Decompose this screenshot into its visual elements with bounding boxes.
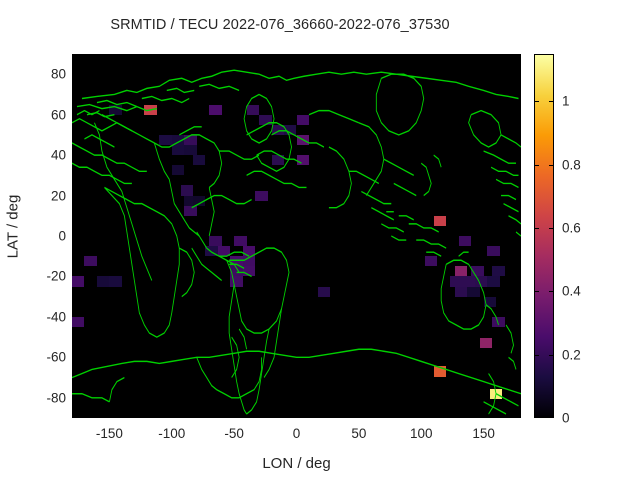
heatmap-cell bbox=[297, 155, 309, 165]
heatmap-cell bbox=[230, 256, 242, 266]
figure-canvas: SRMTID / TECU 2022-076_36660-2022-076_37… bbox=[0, 0, 640, 480]
x-axis-tick-labels: -150-100-50050100150 bbox=[0, 426, 640, 448]
heatmap-cell bbox=[434, 366, 446, 376]
heatmap-cell bbox=[425, 256, 437, 266]
heatmap-cell bbox=[243, 266, 255, 276]
y-tick-label: 80 bbox=[6, 67, 66, 82]
heatmap-cell bbox=[218, 246, 230, 256]
heatmap-cell bbox=[184, 206, 196, 216]
colorbar-tick-label: 0.2 bbox=[562, 347, 581, 362]
colorbar-tick-mark-right bbox=[549, 101, 554, 102]
heatmap-cell bbox=[467, 287, 479, 297]
colorbar-tick-mark bbox=[534, 291, 539, 292]
heatmap-cell bbox=[455, 287, 467, 297]
heatmap-cell bbox=[297, 135, 309, 145]
heatmap-cell bbox=[209, 105, 221, 115]
colorbar-tick-mark bbox=[534, 355, 539, 356]
heatmap-cell bbox=[284, 125, 296, 135]
y-tick-label: 60 bbox=[6, 107, 66, 122]
heatmap-cell bbox=[272, 155, 284, 165]
colorbar-tick-mark-right bbox=[549, 355, 554, 356]
colorbar-tick-mark-right bbox=[549, 291, 554, 292]
heatmap-cell bbox=[193, 196, 205, 206]
heatmap-cell bbox=[181, 185, 193, 195]
map-plot-area[interactable] bbox=[72, 54, 521, 418]
heatmap-cell bbox=[144, 105, 156, 115]
heatmap-cell bbox=[459, 236, 471, 246]
heatmap-cell bbox=[172, 135, 184, 145]
heatmap-cell bbox=[490, 389, 502, 399]
heatmap-cell bbox=[484, 297, 496, 307]
heatmap-cell bbox=[205, 246, 217, 256]
heatmap-cell bbox=[72, 317, 84, 327]
colorbar-tick-label: 0.4 bbox=[562, 284, 581, 299]
heatmap-cell bbox=[487, 246, 499, 256]
heatmap-cell bbox=[109, 105, 121, 115]
heatmap-cell bbox=[230, 276, 242, 286]
y-tick-label: -60 bbox=[6, 350, 66, 365]
heatmap-cell bbox=[172, 145, 184, 155]
heatmap-cell bbox=[492, 266, 504, 276]
colorbar-tick-mark bbox=[534, 228, 539, 229]
heatmap-cell bbox=[247, 105, 259, 115]
x-tick-label: -150 bbox=[74, 426, 144, 441]
heatmap-cell bbox=[450, 276, 462, 286]
heatmap-cell bbox=[318, 287, 330, 297]
heatmap-cell bbox=[492, 317, 504, 327]
heatmap-cell bbox=[234, 236, 246, 246]
heatmap-cell bbox=[209, 236, 221, 246]
colorbar-tick-mark bbox=[534, 101, 539, 102]
colorbar-tick-mark bbox=[534, 165, 539, 166]
heatmap-cells-layer bbox=[72, 54, 521, 418]
colorbar-tick-label: 0.6 bbox=[562, 221, 581, 236]
heatmap-cell bbox=[272, 125, 284, 135]
heatmap-cell bbox=[172, 165, 184, 175]
y-tick-label: -80 bbox=[6, 390, 66, 405]
heatmap-cell bbox=[184, 145, 196, 155]
heatmap-cell bbox=[109, 276, 121, 286]
heatmap-cell bbox=[434, 216, 446, 226]
heatmap-cell bbox=[480, 338, 492, 348]
x-tick-label: 150 bbox=[449, 426, 519, 441]
x-tick-label: -50 bbox=[199, 426, 269, 441]
heatmap-cell bbox=[243, 256, 255, 266]
chart-title: SRMTID / TECU 2022-076_36660-2022-076_37… bbox=[0, 17, 560, 33]
colorbar-tick-label: 0.8 bbox=[562, 157, 581, 172]
heatmap-cell bbox=[487, 276, 499, 286]
colorbar[interactable] bbox=[534, 54, 554, 418]
colorbar-tick-mark-right bbox=[549, 165, 554, 166]
heatmap-cell bbox=[159, 135, 171, 145]
heatmap-cell bbox=[255, 191, 267, 201]
heatmap-cell bbox=[84, 256, 96, 266]
y-axis-title: LAT / deg bbox=[5, 137, 22, 317]
colorbar-tick-label: 1 bbox=[562, 94, 570, 109]
heatmap-cell bbox=[193, 155, 205, 165]
heatmap-cell bbox=[455, 266, 467, 276]
colorbar-tick-mark-right bbox=[549, 228, 554, 229]
x-tick-label: 0 bbox=[262, 426, 332, 441]
heatmap-cell bbox=[97, 276, 109, 286]
x-axis-title: LON / deg bbox=[72, 455, 521, 472]
heatmap-cell bbox=[259, 115, 271, 125]
heatmap-cell bbox=[243, 246, 255, 256]
x-tick-label: 50 bbox=[324, 426, 394, 441]
colorbar-tick-label: 0 bbox=[562, 411, 570, 426]
heatmap-cell bbox=[72, 276, 84, 286]
heatmap-cell bbox=[462, 276, 474, 286]
heatmap-cell bbox=[475, 276, 487, 286]
heatmap-cell bbox=[297, 115, 309, 125]
x-tick-label: 100 bbox=[386, 426, 456, 441]
colorbar-gradient bbox=[534, 54, 554, 418]
heatmap-cell bbox=[184, 135, 196, 145]
x-tick-label: -100 bbox=[137, 426, 207, 441]
heatmap-cell bbox=[471, 266, 483, 276]
heatmap-cell bbox=[230, 266, 242, 276]
